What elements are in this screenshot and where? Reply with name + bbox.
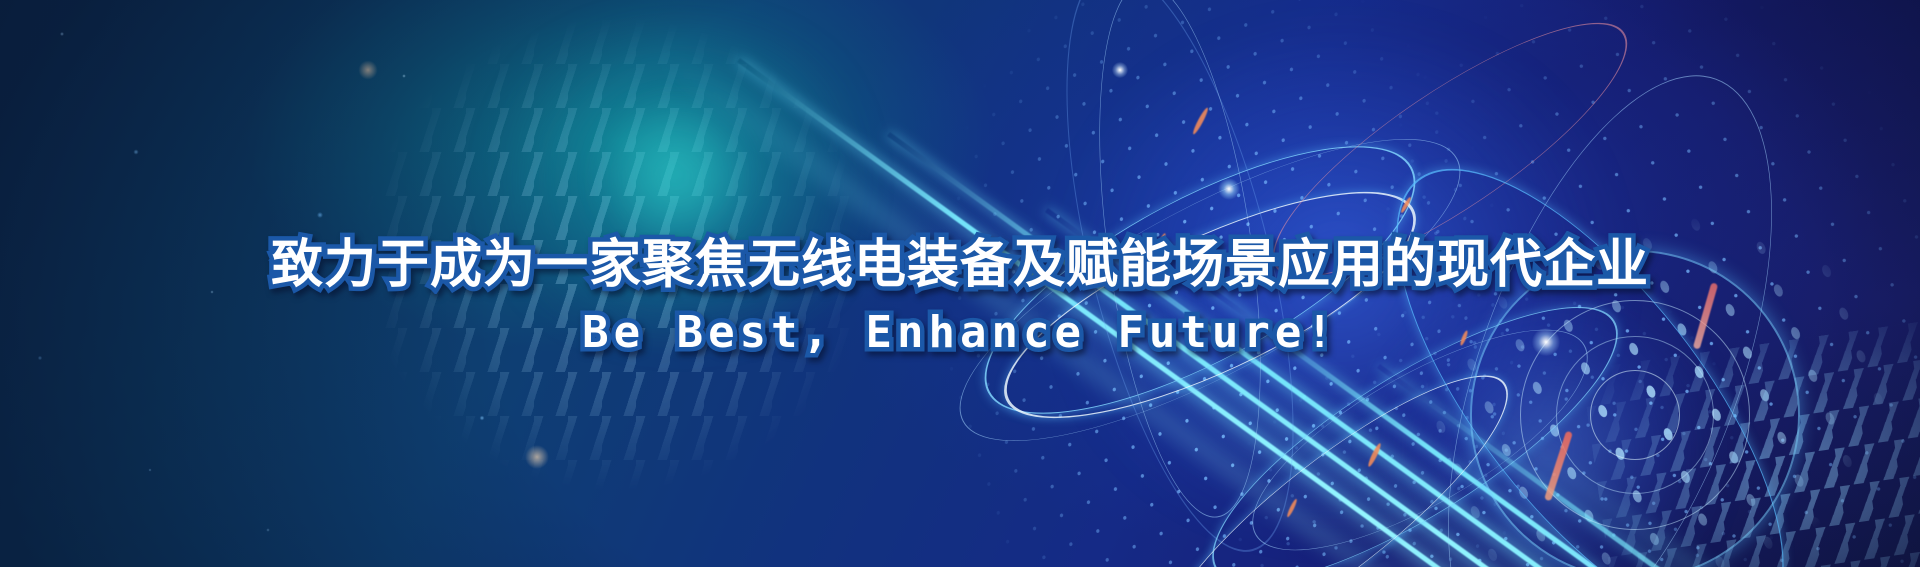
headline-chinese: 致力于成为一家聚焦无线电装备及赋能场景应用的现代企业: [0, 236, 1920, 295]
headline-english: Be Best, Enhance Future!: [0, 309, 1920, 357]
teal-glow-core: [590, 100, 760, 250]
hero-banner: 致力于成为一家聚焦无线电装备及赋能场景应用的现代企业 Be Best, Enha…: [0, 0, 1920, 567]
banner-copy: 致力于成为一家聚焦无线电装备及赋能场景应用的现代企业 Be Best, Enha…: [0, 236, 1920, 358]
